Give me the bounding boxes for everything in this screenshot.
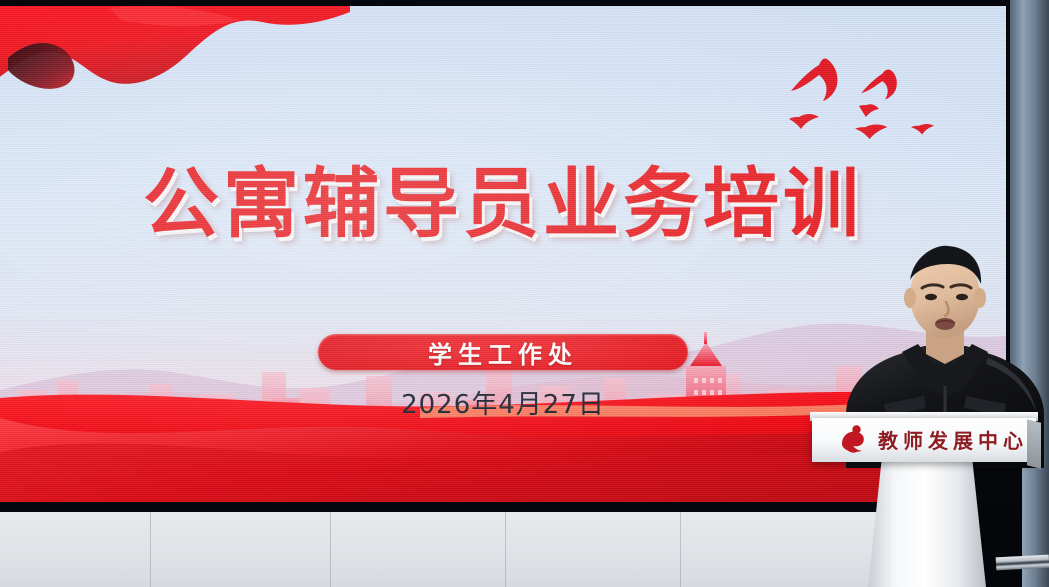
podium-column <box>868 455 986 587</box>
department-pill: 学生工作处 <box>318 334 688 370</box>
podium-panel-side <box>1027 419 1041 468</box>
teacher-development-center-logo-icon <box>836 422 870 456</box>
slide-title: 公寓辅导员业务培训 <box>0 166 1006 242</box>
table-edge <box>996 555 1049 571</box>
wall-seam <box>505 511 506 587</box>
birds-decoration <box>775 41 955 161</box>
podium-organization-label: 教师发展中心 <box>878 425 1028 454</box>
wall-seam <box>150 511 151 587</box>
wall-seam <box>680 511 681 587</box>
wall-seam <box>330 511 331 587</box>
red-ribbon-decoration <box>0 6 350 148</box>
conference-room-scene: 公寓辅导员业务培训 学生工作处 2026年4月27日 <box>0 0 1049 587</box>
